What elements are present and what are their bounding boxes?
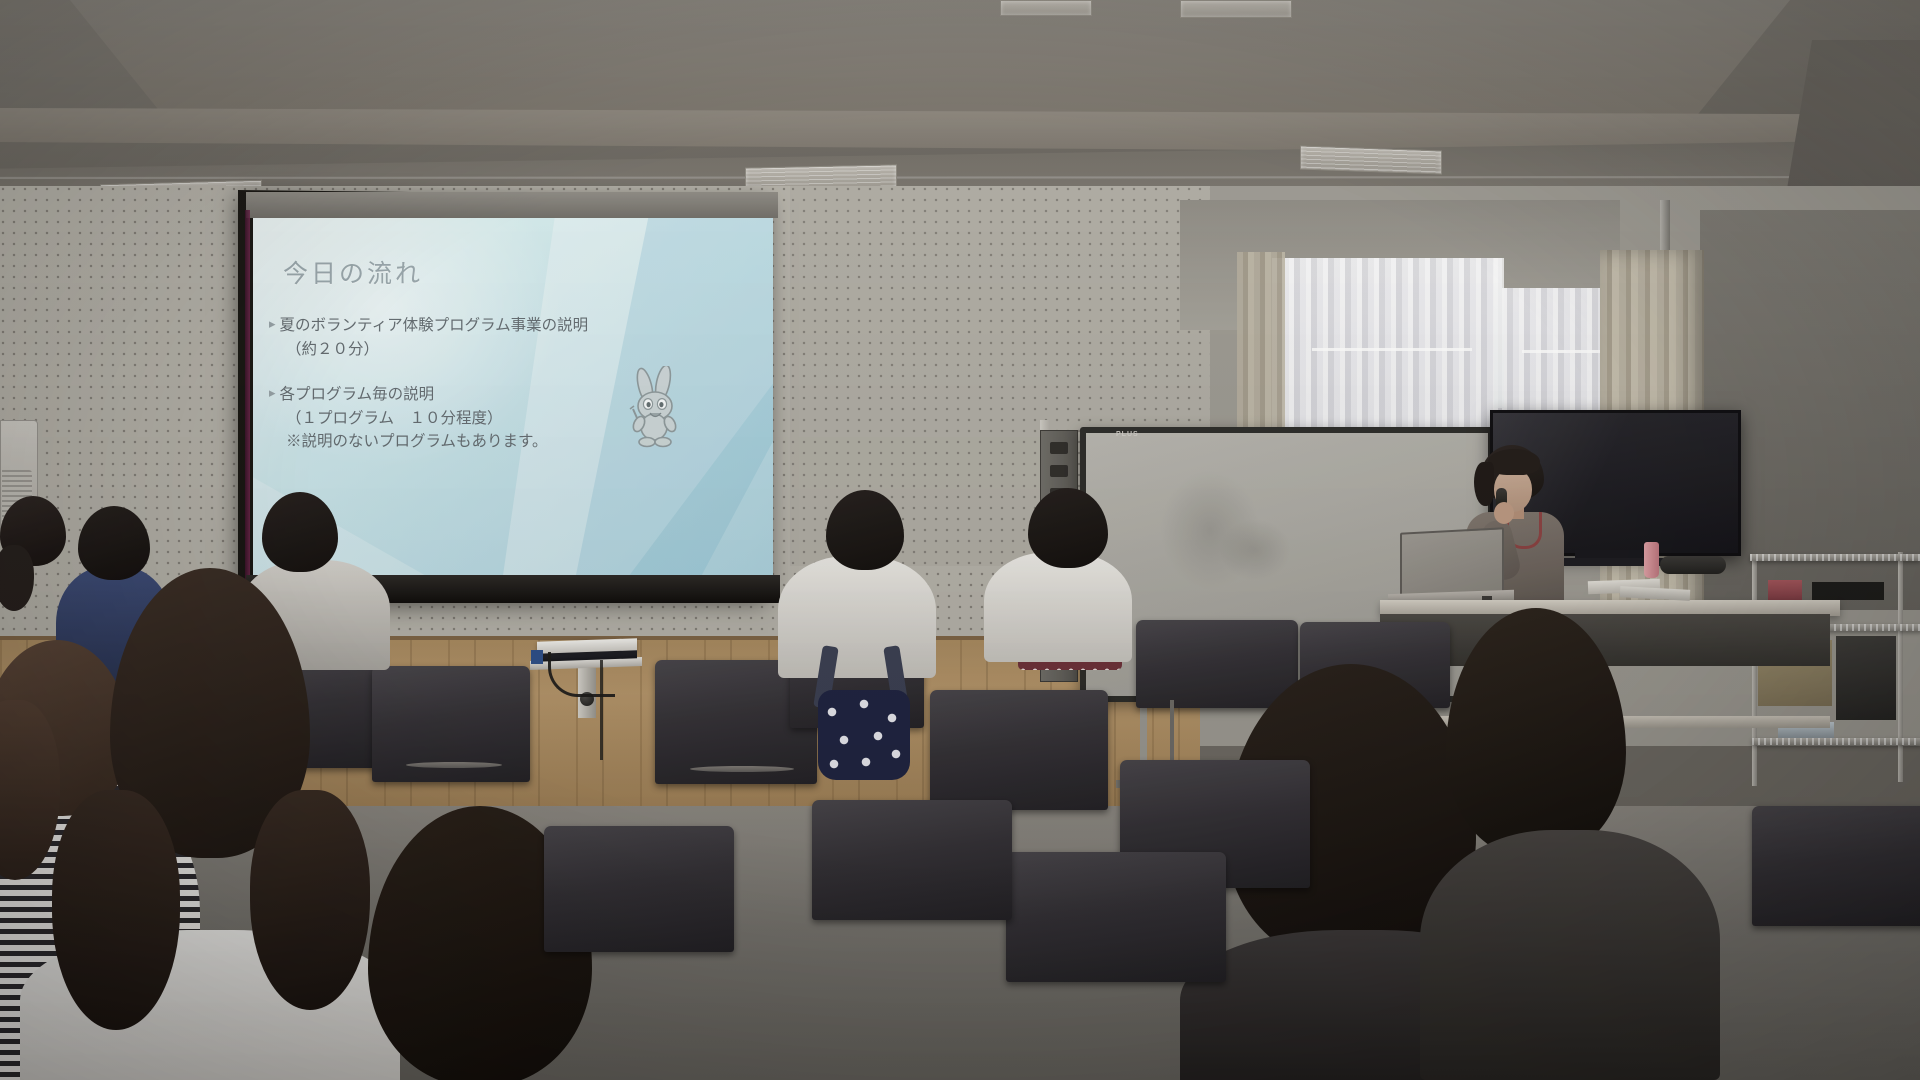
shelf-item-equipment xyxy=(1836,636,1896,720)
shelf-mesh xyxy=(1750,554,1920,561)
star-backpack xyxy=(818,690,910,780)
bullet-2-text: 各プログラム毎の説明 xyxy=(280,383,435,407)
shelf-item-red-box xyxy=(1768,580,1802,600)
audience-shoulders xyxy=(1420,830,1720,1080)
shelf-item-dark-box xyxy=(1812,582,1884,600)
shelf-mesh xyxy=(1752,738,1920,745)
ceiling-inner-panel xyxy=(70,0,1790,128)
shelf-plank-low xyxy=(1752,738,1920,745)
pink-cup xyxy=(1644,542,1659,578)
shelf-post xyxy=(1752,556,1757,786)
projector-cable xyxy=(548,652,615,697)
slide-body: ▸ 夏のボランティア体験プログラム事業の説明 （約２０分） ▸ 各プログラム毎の… xyxy=(269,314,769,454)
audience-shoulders xyxy=(984,552,1132,662)
whiteboard-button[interactable] xyxy=(1050,465,1068,477)
presenter-hair-side xyxy=(1474,462,1494,506)
slide-bullet-2: ▸ 各プログラム毎の説明 xyxy=(269,383,769,407)
rabbit-mascot-icon xyxy=(625,366,687,448)
slide-spacer xyxy=(269,361,769,383)
screen-left-edge xyxy=(245,210,250,595)
bullet-1-text: 夏のボランティア体験プログラム事業の説明 xyxy=(280,314,589,338)
vent-louvers xyxy=(1301,147,1441,174)
bullet-triangle-icon: ▸ xyxy=(269,314,276,335)
curtain-rail-left xyxy=(1312,348,1472,351)
chair[interactable] xyxy=(1136,620,1298,708)
shelf-plank-top xyxy=(1750,554,1920,561)
bullet-1-sub-1: （約２０分） xyxy=(269,338,769,362)
projector-port xyxy=(531,650,543,664)
slide-bullet-1: ▸ 夏のボランティア体験プログラム事業の説明 xyxy=(269,314,769,338)
projector-power-cable xyxy=(600,660,603,760)
bullet-2-sub-1: （１プログラム １０分程度） xyxy=(269,407,769,431)
desk-dark-object xyxy=(1660,556,1726,574)
ceiling-vent-top-right xyxy=(1180,0,1292,18)
chair[interactable] xyxy=(930,690,1108,810)
presenter-hand xyxy=(1494,502,1514,524)
whiteboard-brand-label: PLUS xyxy=(1116,431,1139,438)
ceiling-vent-top-center xyxy=(1000,0,1092,16)
audience-shoulders xyxy=(778,556,936,678)
chair[interactable] xyxy=(544,826,734,952)
shelf-post xyxy=(1898,552,1903,782)
chair[interactable] xyxy=(812,800,1012,920)
whiteboard-button[interactable] xyxy=(1050,442,1068,454)
bullet-triangle-icon: ▸ xyxy=(269,383,276,404)
whiteboard-smudge xyxy=(1220,520,1290,580)
pigtail-left xyxy=(52,790,180,1030)
photo-scene: 今日の流れ ▸ 夏のボランティア体験プログラム事業の説明 （約２０分） ▸ 各プ… xyxy=(0,0,1920,1080)
chair[interactable] xyxy=(1752,806,1920,926)
window-glare xyxy=(1494,258,1504,408)
pigtail-right xyxy=(250,790,370,1010)
presenter-hair-fringe xyxy=(1488,449,1540,475)
bullet-2-sub-2: ※説明のないプログラムもあります。 xyxy=(269,430,769,454)
backpack-star-pattern xyxy=(818,690,910,780)
screen-top-roller xyxy=(246,192,778,218)
slide-title: 今日の流れ xyxy=(283,254,423,290)
ceiling-vent-right xyxy=(1300,146,1442,175)
chair[interactable] xyxy=(1006,852,1226,982)
chair-seat-edge xyxy=(690,766,794,772)
chair-seat-edge xyxy=(406,762,502,768)
